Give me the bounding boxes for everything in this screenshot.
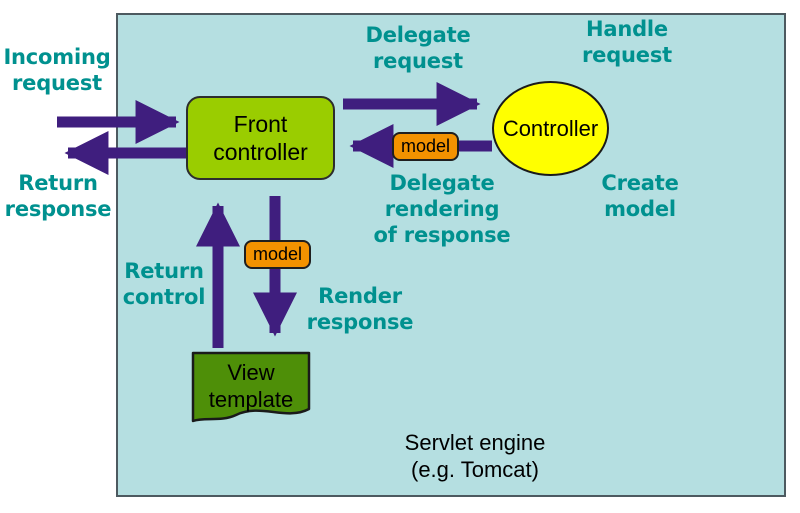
label-incoming-request: Incoming request (0, 44, 116, 96)
node-front-controller[interactable]: Front controller (186, 96, 335, 180)
node-controller[interactable]: Controller (492, 81, 609, 176)
label-delegate-rendering: Delegate rendering of response (362, 170, 522, 248)
label-delegate-request: Delegate request (352, 22, 484, 74)
label-return-response: Return response (0, 170, 118, 222)
diagram-canvas: View template Front controller Controlle… (0, 0, 800, 513)
servlet-engine-container (116, 13, 786, 497)
model-chip-controller-return[interactable]: model (392, 132, 459, 161)
label-return-control: Return control (110, 258, 218, 310)
label-handle-request: Handle request (562, 16, 692, 68)
front-controller-label: Front controller (213, 110, 308, 166)
controller-label: Controller (503, 116, 598, 142)
node-view-template[interactable]: View template (191, 351, 311, 423)
model-chip-view-render[interactable]: model (244, 240, 311, 269)
servlet-engine-caption: Servlet engine (e.g. Tomcat) (350, 429, 600, 483)
label-render-response: Render response (292, 283, 428, 335)
view-template-label: View template (191, 359, 311, 413)
label-create-model: Create model (580, 170, 700, 222)
